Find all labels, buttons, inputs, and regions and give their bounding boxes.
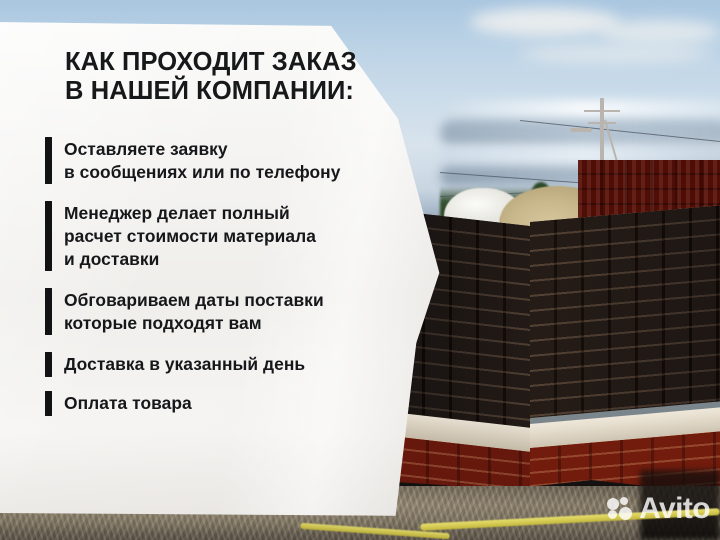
cloud-icon	[600, 20, 720, 44]
list-item-line: Доставка в указанный день	[64, 353, 305, 376]
cloud-icon	[520, 44, 710, 64]
cloud-icon	[470, 8, 620, 36]
steps-list: Оставляете заявку в сообщениях или по те…	[0, 137, 460, 416]
utility-pole-crossarm-icon	[588, 122, 616, 124]
list-item-line: Оплата товара	[64, 392, 192, 415]
bullet-bar-icon	[45, 352, 52, 377]
list-item-line: Оставляете заявку	[64, 138, 340, 161]
page-title-line-2: В НАШЕЙ КОМПАНИИ:	[65, 77, 405, 106]
list-item-line: которые подходят вам	[64, 312, 324, 335]
list-item-line: в сообщениях или по телефону	[64, 161, 340, 184]
list-item-line: и доставки	[64, 248, 316, 271]
avito-wordmark: Avito	[639, 494, 710, 524]
list-item-label: Обговариваем даты поставки которые подхо…	[64, 288, 324, 335]
list-item: Оплата товара	[0, 391, 460, 416]
bullet-bar-icon	[45, 201, 52, 271]
avito-dots-icon	[607, 497, 633, 521]
list-item: Доставка в указанный день	[0, 352, 460, 377]
list-item-line: Обговариваем даты поставки	[64, 289, 324, 312]
list-item-label: Менеджер делает полный расчет стоимости …	[64, 201, 316, 271]
page-title: КАК ПРОХОДИТ ЗАКАЗ В НАШЕЙ КОМПАНИИ:	[65, 48, 405, 106]
list-item-label: Доставка в указанный день	[64, 352, 305, 377]
cloud-icon	[440, 100, 720, 118]
cloud-icon	[440, 120, 720, 146]
promo-image: КАК ПРОХОДИТ ЗАКАЗ В НАШЕЙ КОМПАНИИ: Ост…	[0, 0, 720, 540]
list-item-line: Менеджер делает полный	[64, 202, 316, 225]
list-item-line: расчет стоимости материала	[64, 225, 316, 248]
streetlamp-icon	[570, 128, 592, 132]
list-item: Оставляете заявку в сообщениях или по те…	[0, 137, 460, 184]
bullet-bar-icon	[45, 391, 52, 416]
bullet-bar-icon	[45, 137, 52, 184]
list-item-label: Оплата товара	[64, 391, 192, 416]
list-item-label: Оставляете заявку в сообщениях или по те…	[64, 137, 340, 184]
bullet-bar-icon	[45, 288, 52, 335]
page-title-line-1: КАК ПРОХОДИТ ЗАКАЗ	[65, 48, 405, 77]
utility-pole-crossarm-icon	[584, 110, 620, 112]
avito-watermark: Avito	[607, 494, 710, 524]
brick-wall-icon	[530, 205, 720, 418]
list-item: Менеджер делает полный расчет стоимости …	[0, 201, 460, 271]
list-item: Обговариваем даты поставки которые подхо…	[0, 288, 460, 335]
panel-content: КАК ПРОХОДИТ ЗАКАЗ В НАШЕЙ КОМПАНИИ: Ост…	[0, 0, 460, 540]
brick-texture	[530, 205, 720, 418]
